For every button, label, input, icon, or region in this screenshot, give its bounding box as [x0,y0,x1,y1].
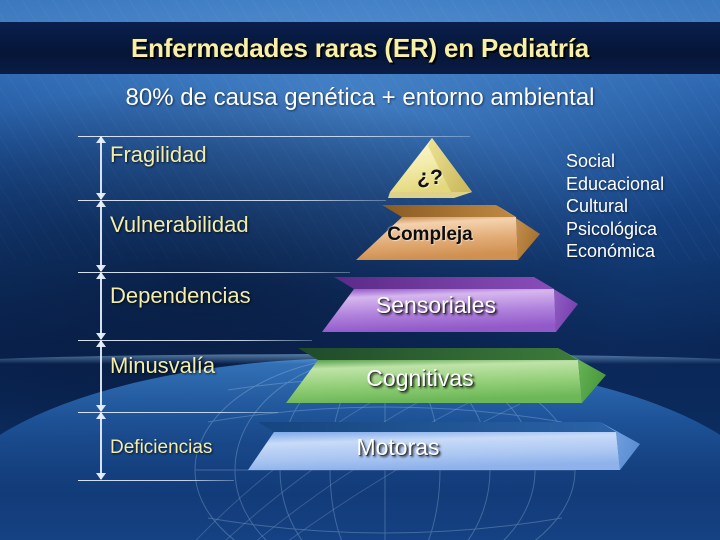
context-item-educacional: Educacional [566,173,664,196]
slide-canvas: Enfermedades raras (ER) en Pediatría 80%… [0,0,720,540]
context-item-social: Social [566,150,664,173]
pyramid-layer-compleja[interactable]: Compleja [356,202,540,268]
pyramid-layer-motoras[interactable]: Motoras [248,418,640,478]
context-item-economica: Económica [566,240,664,263]
pyramid-layer-sensoriales[interactable]: Sensoriales [322,274,578,340]
pyramid-layer-apex[interactable]: ¿? [388,136,496,202]
context-item-cultural: Cultural [566,195,664,218]
pyramid-diagram: Motoras [0,0,720,540]
pyramid-layer-cognitivas[interactable]: Cognitivas [286,345,606,411]
context-factors-list: Social Educacional Cultural Psicológica … [566,150,664,263]
context-item-psicologica: Psicológica [566,218,664,241]
